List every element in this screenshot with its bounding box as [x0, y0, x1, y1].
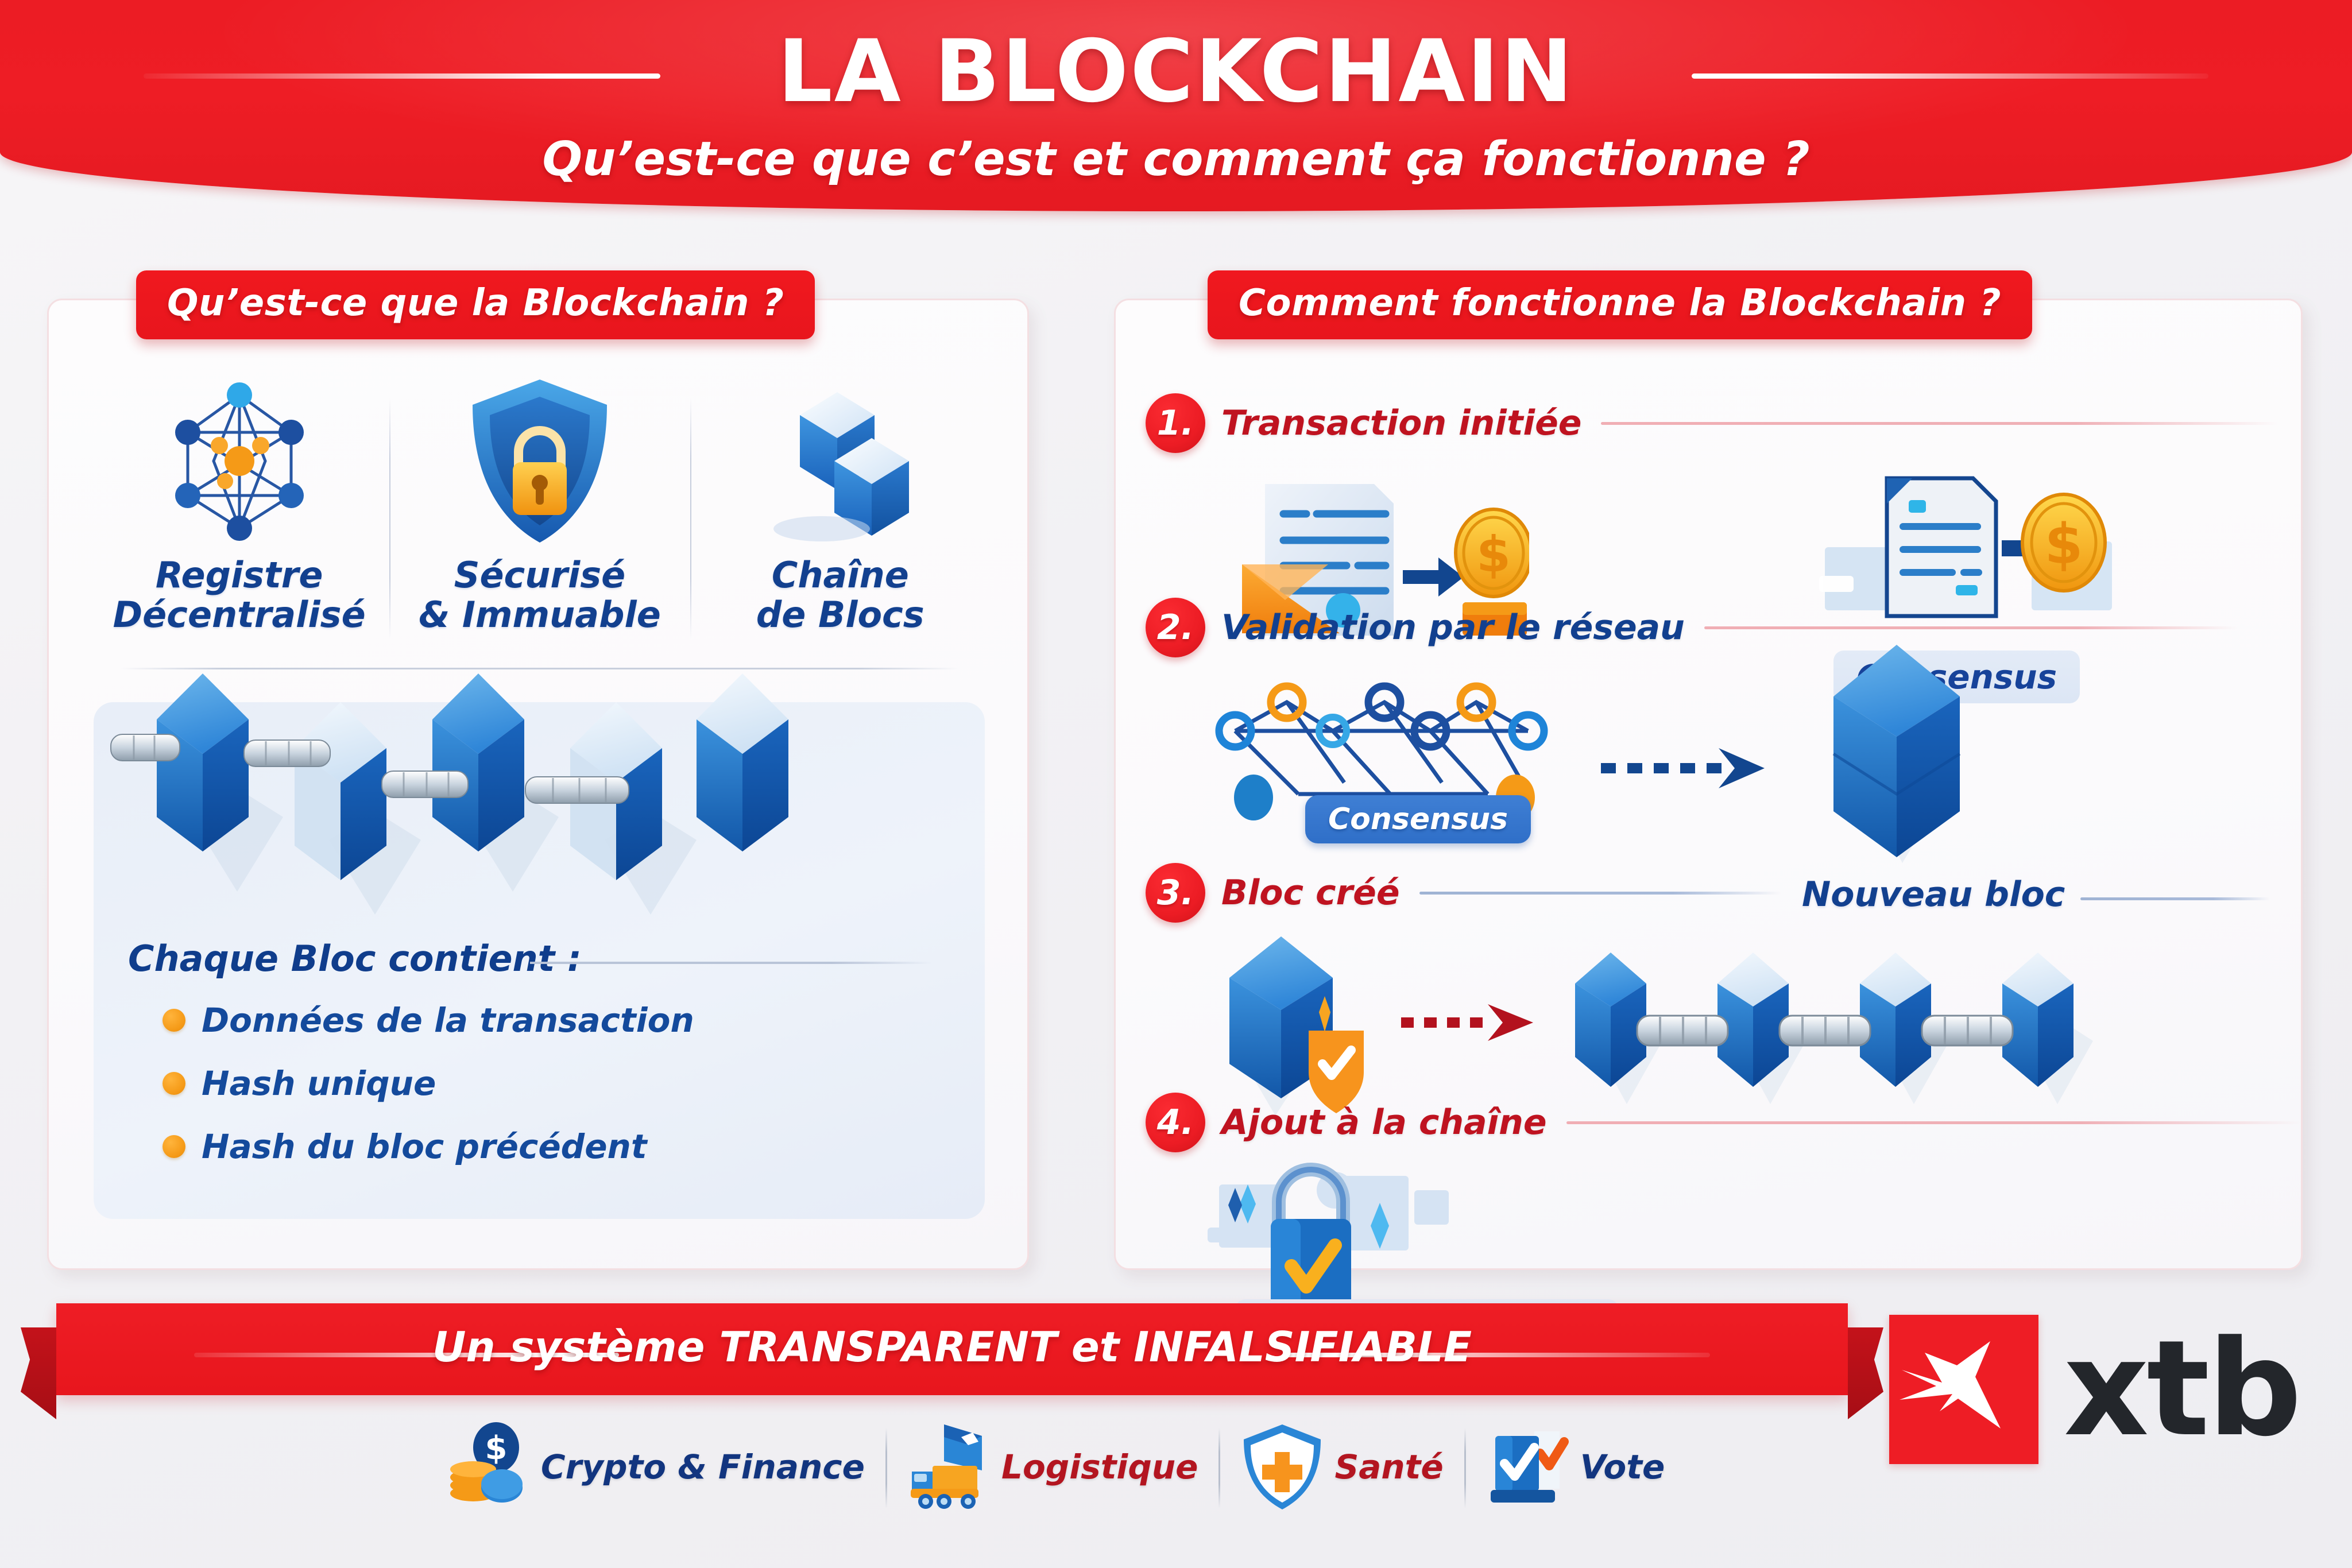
- usecase-crypto-finance: $ Crypto & Finance: [425, 1421, 885, 1513]
- verified-block-icon: [1218, 926, 1390, 1118]
- step-number-badge: 3.: [1146, 863, 1205, 923]
- xtb-x-mark-icon: [1889, 1315, 2038, 1464]
- step-number-badge: 4.: [1146, 1093, 1205, 1152]
- usecase-vote: Vote: [1464, 1421, 1686, 1513]
- list-item-label: Hash unique: [202, 1064, 436, 1103]
- block-contents-card: Chaque Bloc contient : Données de la tra…: [94, 702, 985, 1219]
- svg-text:$: $: [2045, 512, 2083, 576]
- usecase-logistique: Logistique: [885, 1421, 1218, 1513]
- usecase-label: Crypto & Finance: [541, 1447, 865, 1486]
- step-divider: [1566, 1121, 2301, 1124]
- bullet-dot-icon: [163, 1009, 185, 1032]
- footer-tagline: Un système TRANSPARENT et INFALSIFIABLE: [56, 1323, 1848, 1371]
- step-number-badge: 1.: [1146, 393, 1205, 453]
- step-label: Ajout à la chaîne: [1221, 1102, 1547, 1143]
- step-label: Bloc créé: [1221, 873, 1400, 913]
- list-item: Données de la transaction: [163, 1001, 694, 1040]
- coins-icon: $: [446, 1421, 532, 1513]
- new-block-icon: [1811, 633, 1994, 877]
- bullet-dot-icon: [163, 1072, 185, 1095]
- panel-how-blockchain-works: Comment fonctionne la Blockchain ? 1. Tr…: [1114, 299, 2303, 1270]
- block-contents-title: Chaque Bloc contient :: [128, 938, 582, 979]
- step-divider: [1704, 626, 2238, 629]
- feature-label-line1: Registre: [156, 554, 323, 596]
- usecase-label: Santé: [1334, 1447, 1443, 1486]
- usecase-label: Logistique: [1001, 1447, 1198, 1486]
- block-contents-rule: [530, 962, 932, 964]
- usecase-list: $ Crypto & Finance: [425, 1410, 1843, 1524]
- feature-label: Chaîne de Blocs: [756, 555, 924, 635]
- feature-chaine-de-blocs: Chaîne de Blocs: [690, 375, 991, 635]
- truck-icon: [906, 1421, 992, 1513]
- page-subtitle: Qu’est-ce que c’est et comment ça foncti…: [0, 132, 2352, 187]
- footer-ribbon: Un système TRANSPARENT et INFALSIFIABLE: [56, 1303, 1848, 1395]
- new-block-label: Nouveau bloc: [1802, 874, 2065, 915]
- left-panel-header: Qu’est-ce que la Blockchain ?: [136, 270, 815, 339]
- dashed-arrow-red-icon: [1398, 1000, 1548, 1048]
- step-divider: [1601, 422, 2278, 425]
- padlock-check-icon: [1208, 1150, 1564, 1319]
- usecase-label: Vote: [1580, 1447, 1665, 1486]
- step-2-header: 2. Validation par le réseau: [1146, 598, 2238, 657]
- svg-text:$: $: [485, 1430, 508, 1467]
- feature-label: Sécurisé & Immuable: [419, 555, 661, 635]
- svg-text:$: $: [1476, 526, 1511, 583]
- step-number-badge: 2.: [1146, 598, 1205, 657]
- new-block-divider: [2080, 897, 2270, 900]
- step-divider: [1419, 892, 1781, 895]
- blockchain-chain-icon: [1569, 932, 2178, 1118]
- blockchain-chain-illustration: [99, 628, 846, 949]
- page-title: LA BLOCKCHAIN: [0, 22, 2352, 122]
- blocks-icon: [754, 375, 926, 547]
- network-nodes-icon: [162, 375, 317, 547]
- feature-label: Registre Décentralisé: [113, 555, 366, 635]
- medical-shield-icon: [1239, 1421, 1325, 1513]
- right-panel-header: Comment fonctionne la Blockchain ?: [1208, 270, 2032, 339]
- brand-name: xtb: [2064, 1335, 2300, 1444]
- panel-what-is-blockchain: Qu’est-ce que la Blockchain ?: [47, 299, 1029, 1270]
- feature-registre-decentralise: Registre Décentralisé: [89, 375, 389, 635]
- list-item: Hash du bloc précédent: [163, 1127, 694, 1166]
- list-item-label: Données de la transaction: [202, 1001, 694, 1040]
- step-1-header: 1. Transaction initiée: [1146, 393, 2278, 453]
- block-contents-list: Données de la transaction Hash unique Ha…: [163, 1001, 694, 1190]
- bullet-dot-icon: [163, 1135, 185, 1158]
- step-4-header: 4. Ajout à la chaîne: [1146, 1093, 2301, 1152]
- usecase-sante: Santé: [1218, 1421, 1464, 1513]
- feature-list: Registre Décentralisé: [89, 375, 991, 662]
- dashed-arrow-blue-icon: [1598, 742, 1782, 797]
- step-label: Transaction initiée: [1221, 403, 1581, 443]
- brand-logo: xtb: [1889, 1315, 2300, 1464]
- step-label: Validation par le réseau: [1221, 607, 1685, 648]
- list-item: Hash unique: [163, 1064, 694, 1103]
- top-banner: LA BLOCKCHAIN Qu’est-ce que c’est et com…: [0, 0, 2352, 211]
- feature-securise-immuable: Sécurisé & Immuable: [389, 375, 690, 635]
- feature-label-line1: Sécurisé: [454, 554, 625, 596]
- ballot-check-icon: [1485, 1421, 1571, 1513]
- step-3-header: 3. Bloc créé: [1146, 863, 1781, 923]
- list-item-label: Hash du bloc précédent: [202, 1127, 647, 1166]
- consensus-badge-network: Consensus: [1305, 795, 1531, 843]
- shield-lock-icon: [462, 375, 617, 547]
- feature-label-line1: Chaîne: [772, 554, 909, 596]
